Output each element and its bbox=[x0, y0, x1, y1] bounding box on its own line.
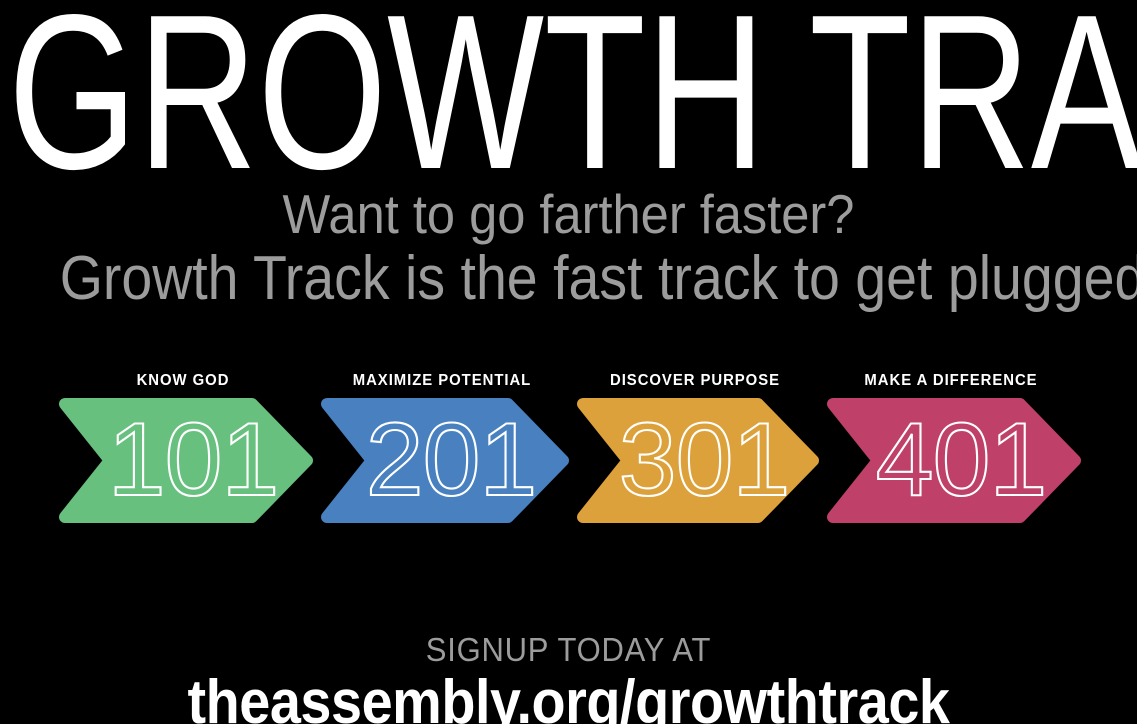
step-number-101: 101 bbox=[108, 402, 279, 518]
subtitle-line-2: Growth Track is the fast track to get pl… bbox=[60, 245, 1078, 313]
subtitle-line-1: Want to go farther faster? bbox=[45, 183, 1091, 245]
page-title: GROWTH TRACK bbox=[8, 0, 904, 193]
chevron-shape-101: 101 bbox=[52, 398, 314, 523]
chevron-shape-401: 401 bbox=[820, 398, 1082, 523]
step-label-maximize-potential: MAXIMIZE POTENTIAL bbox=[319, 372, 565, 390]
step-make-a-difference[interactable]: MAKE A DIFFERENCE 401 bbox=[820, 372, 1082, 537]
footer-block: SIGNUP TODAY AT theassembly.org/growthtr… bbox=[0, 632, 1137, 724]
signup-call-to-action: SIGNUP TODAY AT bbox=[34, 632, 1103, 668]
step-number-401: 401 bbox=[876, 402, 1047, 518]
step-discover-purpose[interactable]: DISCOVER PURPOSE 301 bbox=[570, 372, 820, 537]
growth-track-steps: KNOW GOD 101 MAXIMIZE POTENTIAL 201 DISC… bbox=[0, 372, 1137, 537]
step-know-god[interactable]: KNOW GOD 101 bbox=[52, 372, 314, 537]
step-number-201: 201 bbox=[366, 402, 537, 518]
step-maximize-potential[interactable]: MAXIMIZE POTENTIAL 201 bbox=[314, 372, 570, 537]
step-label-discover-purpose: DISCOVER PURPOSE bbox=[575, 372, 815, 390]
growth-track-poster: GROWTH TRACK Want to go farther faster? … bbox=[0, 0, 1137, 724]
subtitle-block: Want to go farther faster? Growth Track … bbox=[0, 183, 1137, 313]
step-label-make-a-difference: MAKE A DIFFERENCE bbox=[825, 372, 1077, 390]
step-label-know-god: KNOW GOD bbox=[57, 372, 309, 390]
chevron-shape-301: 301 bbox=[570, 398, 820, 523]
step-number-301: 301 bbox=[619, 402, 790, 518]
signup-url[interactable]: theassembly.org/growthtrack bbox=[57, 670, 1080, 724]
chevron-shape-201: 201 bbox=[314, 398, 570, 523]
